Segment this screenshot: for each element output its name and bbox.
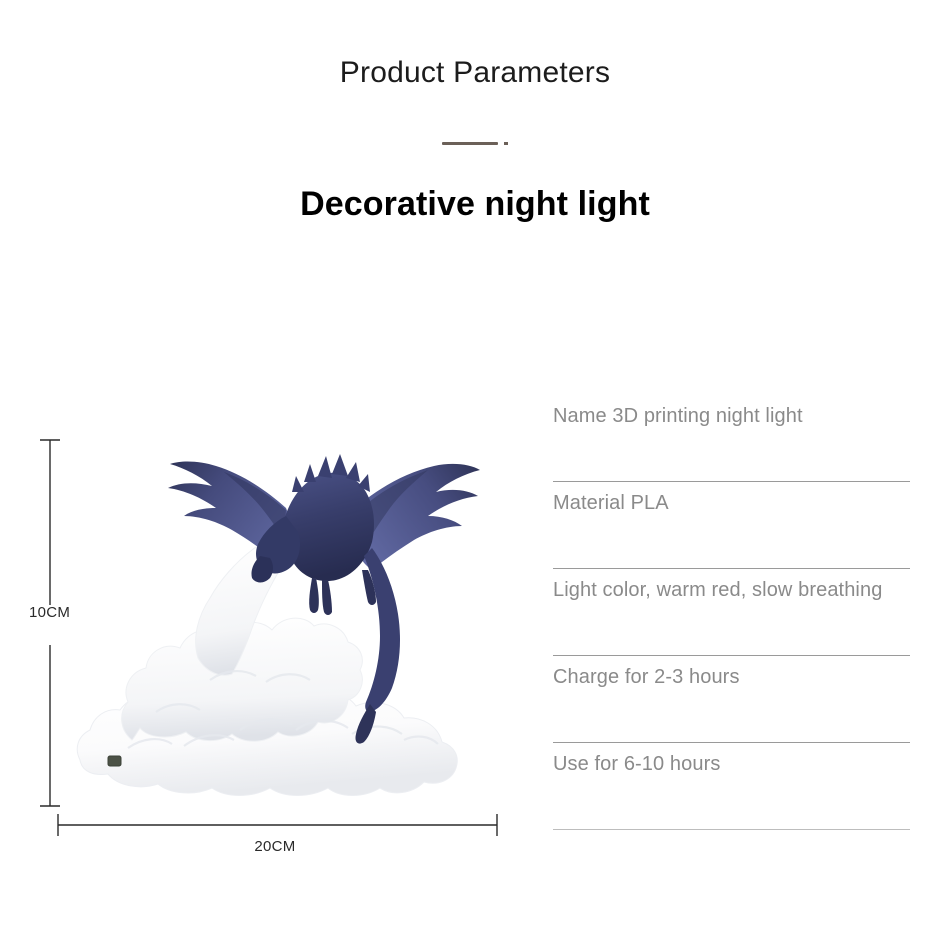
charging-port — [108, 756, 121, 766]
spec-text: Charge for 2-3 hours — [553, 666, 740, 689]
product-photo-area — [40, 420, 520, 880]
page-title: Product Parameters — [0, 56, 950, 90]
spec-row: Name 3D printing night light — [553, 395, 938, 482]
width-dimension-label: 20CM — [0, 838, 550, 855]
spec-text: Name 3D printing night light — [553, 405, 803, 428]
spec-text: Use for 6-10 hours — [553, 753, 720, 776]
spec-divider — [553, 829, 910, 830]
spec-text: Material PLA — [553, 492, 669, 515]
divider-bar — [442, 142, 498, 145]
dragon-tail — [364, 548, 400, 712]
spec-row: Light color, warm red, slow breathing — [553, 569, 938, 656]
height-dimension-label: 10CM — [29, 604, 70, 621]
spec-list: Name 3D printing night light Material PL… — [553, 395, 938, 830]
title-divider — [0, 140, 950, 146]
spec-row: Use for 6-10 hours — [553, 743, 938, 830]
divider-dot — [504, 142, 508, 145]
spec-row: Charge for 2-3 hours — [553, 656, 938, 743]
spec-text: Light color, warm red, slow breathing — [553, 579, 882, 602]
spec-row: Material PLA — [553, 482, 938, 569]
product-name-heading: Decorative night light — [0, 185, 950, 224]
height-dimension — [32, 437, 66, 809]
product-photo — [60, 430, 520, 830]
